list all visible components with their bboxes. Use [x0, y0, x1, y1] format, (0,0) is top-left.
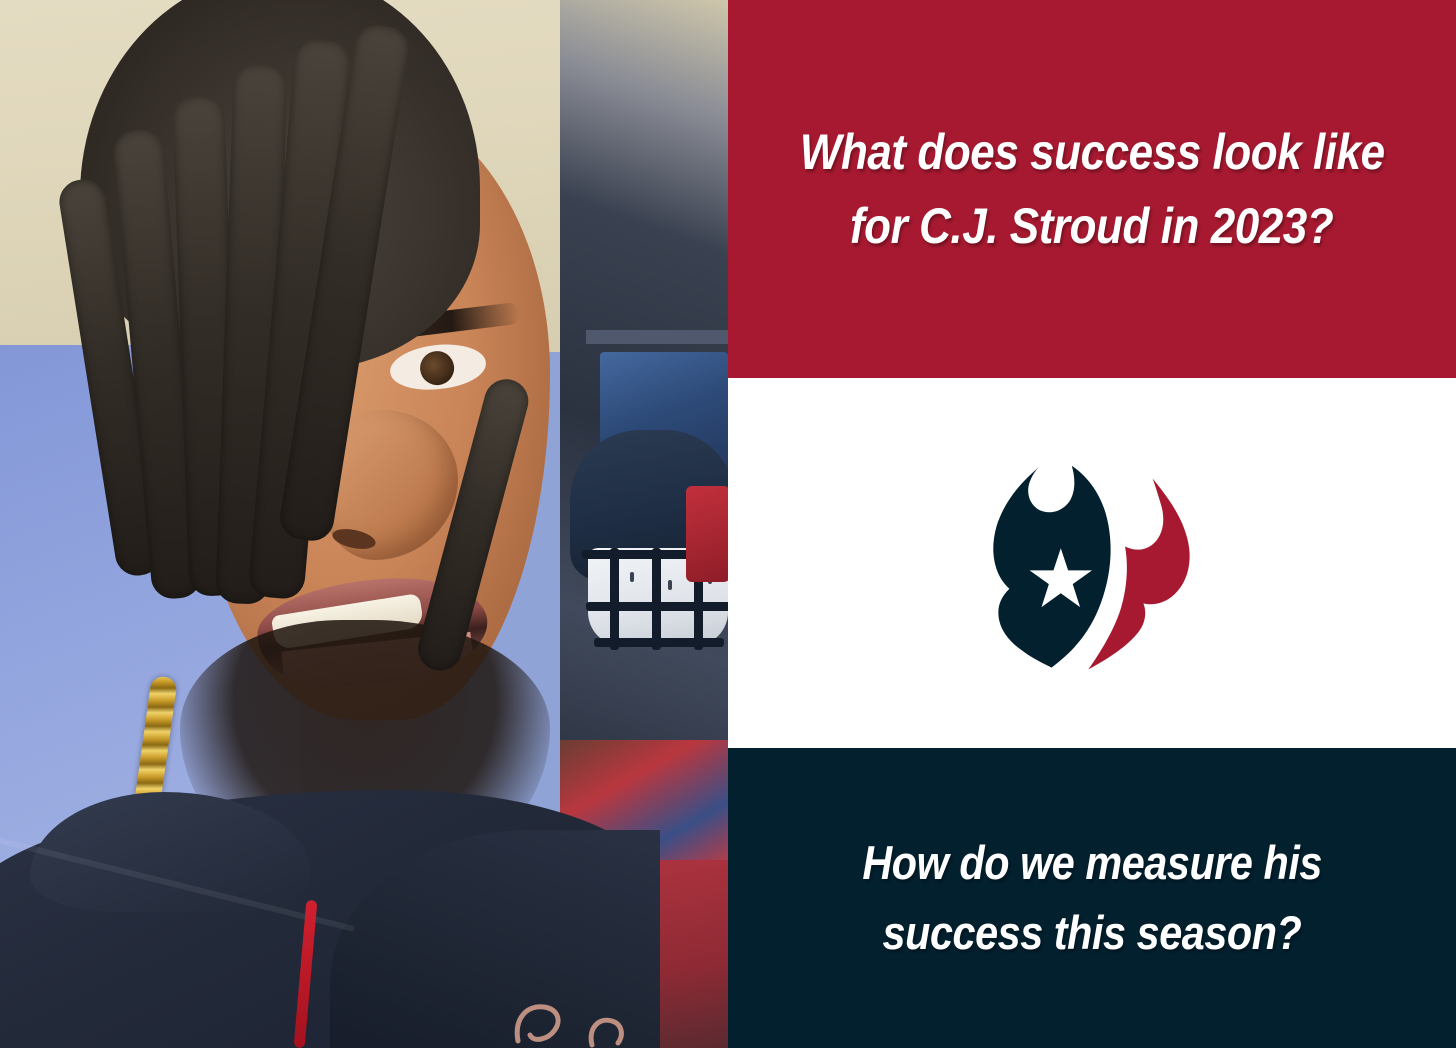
- player-photo: [0, 0, 728, 1048]
- bottom-headline-line1: How do we measure his: [862, 831, 1322, 895]
- facemask-bar: [610, 548, 619, 650]
- helmet-vent: [668, 580, 672, 590]
- right-column: What does success look like for C.J. Str…: [728, 0, 1456, 1048]
- logo-panel: [728, 378, 1456, 748]
- red-equipment: [686, 486, 728, 582]
- hoodie-chest-logo-icon: [500, 975, 650, 1048]
- houston-texans-bull-logo-icon: [972, 451, 1212, 675]
- question-panel-top: What does success look like for C.J. Str…: [728, 0, 1456, 378]
- player-hair-locs: [20, 0, 450, 720]
- top-headline-line2: for C.J. Stroud in 2023?: [850, 192, 1333, 260]
- facemask-bar: [652, 548, 661, 650]
- top-headline-line1: What does success look like: [800, 118, 1385, 186]
- question-panel-bottom: How do we measure his success this seaso…: [728, 748, 1456, 1048]
- graphic-canvas: What does success look like for C.J. Str…: [0, 0, 1456, 1048]
- equipment-shelf: [586, 330, 728, 344]
- helmet-vent: [630, 572, 634, 582]
- bottom-headline-line2: success this season?: [883, 901, 1302, 965]
